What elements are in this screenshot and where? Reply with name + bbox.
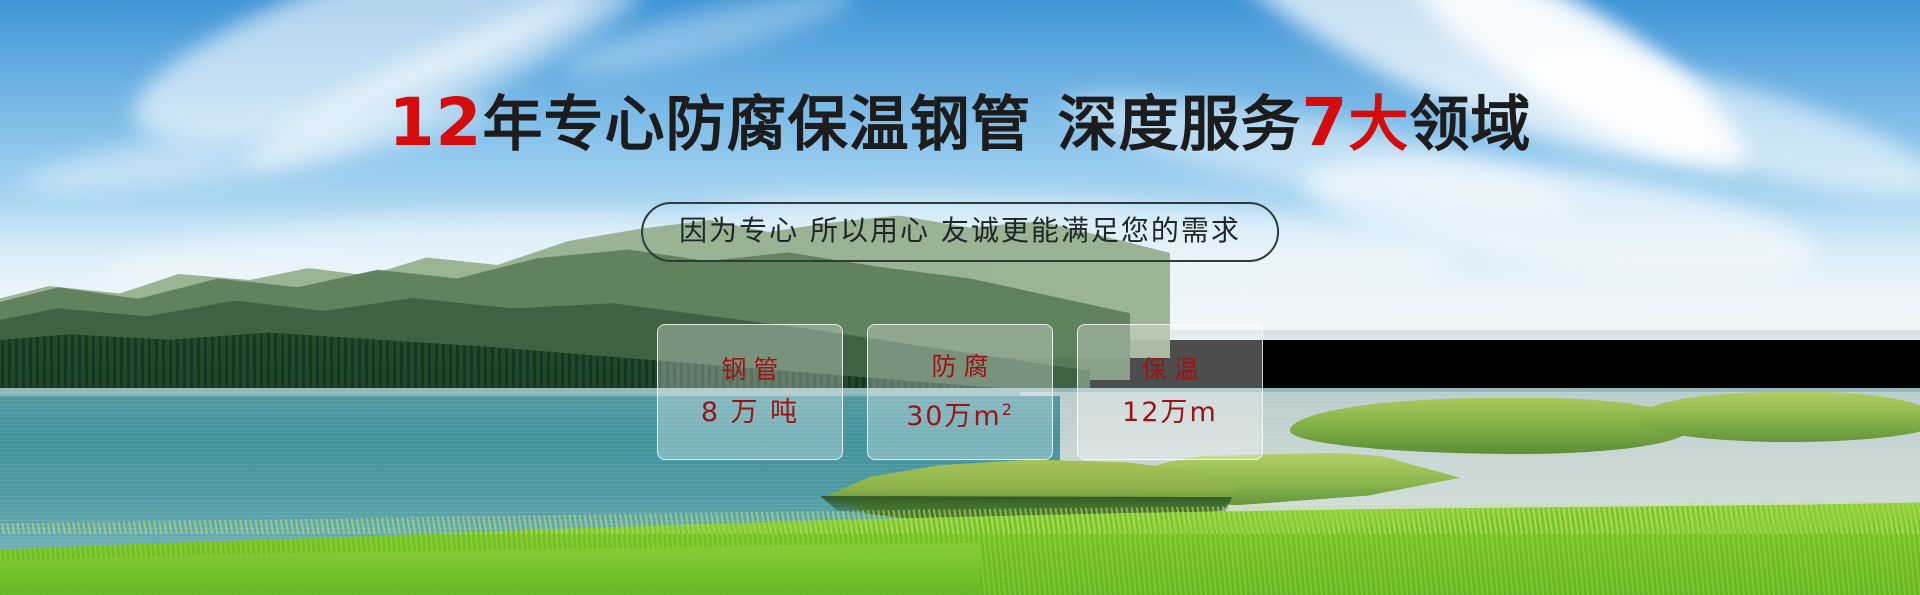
stat-card-group: 钢管 8 万 吨 防腐 30万m2 保温 12万m — [657, 324, 1263, 460]
hero-banner: 12年专心防腐保温钢管深度服务7大领域 因为专心 所以用心 友诚更能满足您的需求… — [0, 0, 1920, 595]
stat-card-anticorrosion[interactable]: 防腐 30万m2 — [867, 324, 1053, 460]
headline-fields-text: 领域 — [1409, 90, 1531, 160]
headline-fields-number: 7 — [1301, 84, 1348, 161]
headline-years-number: 12 — [389, 84, 483, 161]
stat-card-value: 8 万 吨 — [701, 398, 799, 428]
stat-card-value: 12万m — [1122, 398, 1218, 428]
stat-card-value-text: 12万m — [1122, 397, 1218, 428]
stat-card-value-text: 8 万 吨 — [701, 397, 799, 428]
stat-card-value-text: 30万m — [906, 401, 1002, 432]
headline-fields-measure: 大 — [1348, 90, 1409, 160]
marsh-patch — [1290, 398, 1690, 454]
stat-card-insulation[interactable]: 保温 12万m — [1077, 324, 1263, 460]
stat-card-label: 防腐 — [924, 353, 995, 381]
headline-main-text: 年专心防腐保温钢管 — [482, 90, 1031, 160]
stat-card-value-superscript: 2 — [1002, 400, 1014, 419]
stat-card-value: 30万m2 — [906, 395, 1014, 432]
stat-card-steel-pipe[interactable]: 钢管 8 万 吨 — [657, 324, 843, 460]
headline-service-text: 深度服务 — [1057, 90, 1301, 160]
stat-card-label: 保温 — [1134, 356, 1205, 384]
marsh-patch — [1640, 392, 1920, 442]
banner-headline: 12年专心防腐保温钢管深度服务7大领域 — [0, 92, 1920, 156]
banner-subtitle-pill: 因为专心 所以用心 友诚更能满足您的需求 — [641, 202, 1279, 262]
cloud-icon — [559, 0, 861, 90]
stat-card-label: 钢管 — [714, 356, 785, 384]
